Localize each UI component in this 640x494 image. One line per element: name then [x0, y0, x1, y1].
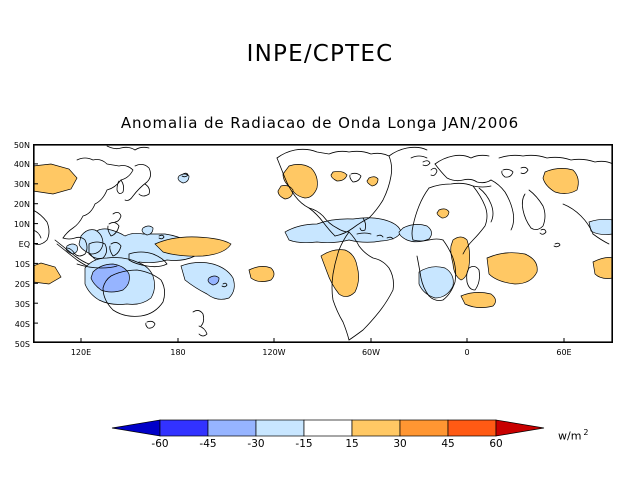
y-axis-tick-4: 10N	[2, 220, 30, 229]
y-axis-tick-2: 30N	[2, 180, 30, 189]
x-axis-tick-4: 0	[447, 348, 487, 357]
colorbar-swatches	[104, 418, 552, 438]
colorbar-band-15-30	[352, 420, 400, 436]
units-exponent: 2	[583, 428, 588, 437]
y-axis-tick-8: 30S	[2, 300, 30, 309]
y-axis-tick-7: 20S	[2, 280, 30, 289]
anomaly-region-south-pacific-positive	[249, 266, 274, 281]
colorbar-tick-7: 60	[476, 438, 516, 450]
x-axis-tick-5: 60E	[544, 348, 584, 357]
colorbar-tick-4: 15	[332, 438, 372, 450]
anomaly-region-east-edge-positive	[593, 258, 613, 279]
map-plot-area	[33, 144, 613, 343]
colorbar-tick-0: -60	[140, 438, 180, 450]
colorbar-band-minus15-15	[304, 420, 352, 436]
colorbar-band-minus45-minus30	[208, 420, 256, 436]
colorbar-band-45-60	[448, 420, 496, 436]
y-axis-tick-1: 40N	[2, 160, 30, 169]
figure-canvas: INPE/CPTEC Anomalia de Radiacao de Onda …	[0, 0, 640, 494]
y-axis-tick-9: 40S	[2, 320, 30, 329]
anomaly-map	[33, 144, 613, 343]
chart-subtitle: Anomalia de Radiacao de Onda Longa JAN/2…	[0, 114, 640, 132]
y-axis-tick-5: EQ	[2, 240, 30, 249]
y-axis-tick-6: 10S	[2, 260, 30, 269]
colorbar-arrow-left	[112, 420, 160, 436]
units-label: w/m2	[558, 428, 589, 443]
units-text: w/m	[558, 430, 581, 443]
colorbar-tick-2: -30	[236, 438, 276, 450]
x-axis-tick-3: 60W	[351, 348, 391, 357]
colorbar-band-30-45	[400, 420, 448, 436]
colorbar-tick-3: -15	[284, 438, 324, 450]
colorbar-band-minus30-minus15	[256, 420, 304, 436]
colorbar-arrow-right	[496, 420, 544, 436]
colorbar-tick-5: 30	[380, 438, 420, 450]
page-title: INPE/CPTEC	[0, 41, 640, 67]
colorbar-tick-1: -45	[188, 438, 228, 450]
y-axis-tick-3: 20N	[2, 200, 30, 209]
x-axis-tick-1: 180	[158, 348, 198, 357]
colorbar-band-minus60-minus45	[160, 420, 208, 436]
y-axis-tick-10: 50S	[2, 340, 30, 349]
y-axis-tick-0: 50N	[2, 141, 30, 150]
colorbar-tick-6: 45	[428, 438, 468, 450]
x-axis-tick-2: 120W	[254, 348, 294, 357]
colorbar: -60 -45 -30 -15 15 30 45 60	[104, 418, 552, 456]
x-axis-tick-0: 120E	[61, 348, 101, 357]
